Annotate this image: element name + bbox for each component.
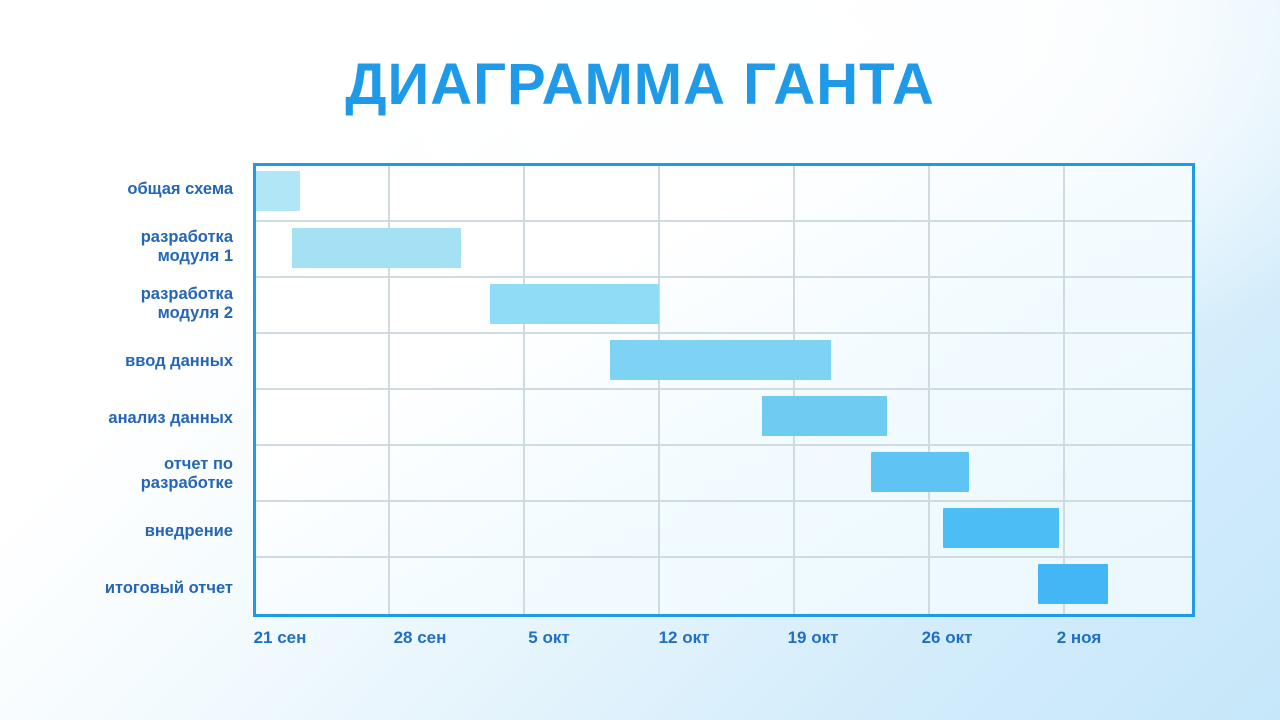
gantt-bar-vnedrenie[interactable] (943, 508, 1059, 548)
gridline-horizontal (256, 388, 1192, 390)
gridline-vertical (793, 166, 795, 614)
page-title: ДИАГРАММА ГАНТА (0, 55, 1280, 116)
slide-canvas: ДИАГРАММА ГАНТА общая схема разработка м… (0, 0, 1280, 720)
x-tick-label-6: 2 ноя (1009, 628, 1149, 648)
gantt-bar-razrabotka-modulya-2[interactable] (490, 284, 659, 324)
gantt-bar-otchet-po-razrabotke[interactable] (871, 452, 969, 492)
gridline-vertical (928, 166, 930, 614)
gridline-horizontal (256, 444, 1192, 446)
gridline-vertical (523, 166, 525, 614)
gantt-bar-razrabotka-modulya-1[interactable] (292, 228, 461, 268)
gridline-horizontal (256, 220, 1192, 222)
gantt-bar-analiz-dannyh[interactable] (762, 396, 887, 436)
gantt-plot-frame (253, 163, 1195, 617)
gridline-horizontal (256, 500, 1192, 502)
x-tick-label-2: 5 окт (479, 628, 619, 648)
row-label-5: отчет по разработке (13, 455, 233, 493)
gantt-bar-vvod-dannyh[interactable] (610, 340, 831, 380)
row-label-4: анализ данных (13, 409, 233, 428)
x-tick-label-0: 21 сен (210, 628, 350, 648)
gridline-horizontal (256, 332, 1192, 334)
x-tick-label-5: 26 окт (877, 628, 1017, 648)
x-tick-label-1: 28 сен (350, 628, 490, 648)
x-tick-label-3: 12 окт (614, 628, 754, 648)
gridline-vertical (658, 166, 660, 614)
row-label-2: разработка модуля 2 (13, 285, 233, 323)
x-tick-label-4: 19 окт (743, 628, 883, 648)
row-label-6: внедрение (13, 522, 233, 541)
gantt-bar-obshchaya-shema[interactable] (256, 171, 300, 211)
row-label-1: разработка модуля 1 (13, 228, 233, 266)
row-label-0: общая схема (13, 180, 233, 199)
gridline-horizontal (256, 556, 1192, 558)
row-label-3: ввод данных (13, 352, 233, 371)
gridline-vertical (1063, 166, 1065, 614)
gridline-horizontal (256, 276, 1192, 278)
gantt-bar-itogovyy-otchet[interactable] (1038, 564, 1108, 604)
row-label-7: итоговый отчет (13, 579, 233, 598)
